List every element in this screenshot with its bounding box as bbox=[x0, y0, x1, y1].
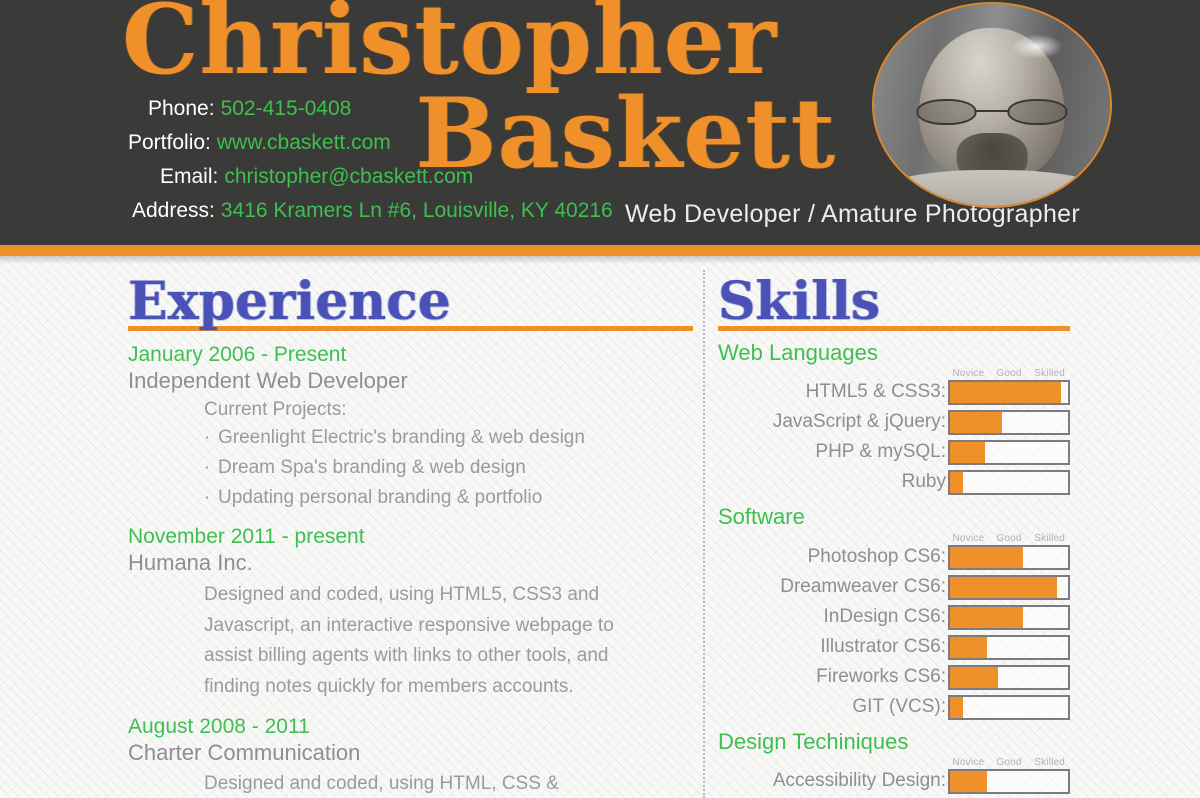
photo-lens-left bbox=[916, 99, 976, 125]
skill-group-title: Web Languages bbox=[718, 340, 1070, 366]
skill-bar bbox=[948, 665, 1070, 690]
skill-scale-label: Good bbox=[989, 368, 1030, 379]
skill-scale-label: Novice bbox=[948, 757, 989, 768]
resume-header: Christopher Baskett Phone: 502-415-0408 … bbox=[0, 0, 1200, 245]
skill-bar bbox=[948, 695, 1070, 720]
skill-label: Illustrator CS6: bbox=[820, 637, 946, 658]
experience-description: Designed and coded, using HTML, CSS & Ja… bbox=[128, 769, 628, 798]
contact-row-portfolio: Portfolio: www.cbaskett.com bbox=[120, 132, 560, 153]
skill-group-title: Software bbox=[718, 504, 1070, 530]
experience-description: Designed and coded, using HTML5, CSS3 an… bbox=[128, 580, 628, 703]
profile-photo bbox=[872, 2, 1112, 208]
experience-date: August 2008 - 2011 bbox=[128, 715, 693, 739]
contact-value-portfolio[interactable]: www.cbaskett.com bbox=[217, 132, 391, 153]
skill-label: Fireworks CS6: bbox=[816, 667, 946, 688]
job-tagline: Web Developer / Amature Photographer bbox=[625, 200, 1080, 229]
experience-subheading: Current Projects: bbox=[128, 398, 693, 423]
skill-scale-label: Skilled bbox=[1029, 533, 1070, 544]
skill-bar-fill bbox=[950, 382, 1061, 403]
experience-heading: Experience bbox=[128, 276, 693, 328]
skill-scale-label: Skilled bbox=[1029, 368, 1070, 379]
photo-glasses-bridge bbox=[977, 110, 1007, 112]
skill-bar-fill bbox=[950, 472, 963, 493]
skill-row: GIT (VCS): bbox=[718, 695, 1070, 720]
experience-item: August 2008 - 2011Charter CommunicationD… bbox=[128, 715, 693, 798]
contact-row-address: Address: 3416 Kramers Ln #6, Louisville,… bbox=[120, 200, 560, 221]
contact-value-phone[interactable]: 502-415-0408 bbox=[221, 98, 352, 119]
first-name: Christopher bbox=[120, 0, 850, 84]
contact-label-phone: Phone: bbox=[148, 98, 215, 119]
experience-bullet: Greenlight Electric's branding & web des… bbox=[204, 423, 693, 453]
skill-row: JavaScript & jQuery: bbox=[718, 410, 1070, 435]
skill-group: SoftwareNoviceGoodSkilledPhotoshop CS6:D… bbox=[718, 504, 1070, 719]
photo-glasses bbox=[916, 99, 1067, 125]
skill-bar-fill bbox=[950, 667, 998, 688]
skill-groups: Web LanguagesNoviceGoodSkilledHTML5 & CS… bbox=[718, 340, 1070, 794]
contact-row-email: Email: christopher@cbaskett.com bbox=[120, 166, 560, 187]
contact-label-portfolio: Portfolio: bbox=[128, 132, 211, 153]
experience-bullet: Dream Spa's branding & web design bbox=[204, 453, 693, 483]
skill-label: PHP & mySQL: bbox=[815, 442, 946, 463]
skill-bar bbox=[948, 605, 1070, 630]
contact-label-address: Address: bbox=[132, 200, 215, 221]
skill-group: Web LanguagesNoviceGoodSkilledHTML5 & CS… bbox=[718, 340, 1070, 495]
contact-list: Phone: 502-415-0408 Portfolio: www.cbask… bbox=[120, 98, 560, 234]
skill-bar-fill bbox=[950, 697, 963, 718]
skills-heading: Skills bbox=[718, 276, 1070, 328]
skill-scale-row: NoviceGoodSkilled bbox=[718, 757, 1070, 769]
skill-bar bbox=[948, 635, 1070, 660]
experience-column: Experience January 2006 - PresentIndepen… bbox=[0, 264, 703, 798]
skill-row: Ruby bbox=[718, 470, 1070, 495]
experience-date: January 2006 - Present bbox=[128, 343, 693, 367]
content-columns: Experience January 2006 - PresentIndepen… bbox=[0, 264, 1200, 798]
skill-row: Photoshop CS6: bbox=[718, 545, 1070, 570]
skill-label: Photoshop CS6: bbox=[808, 547, 946, 568]
skill-label: JavaScript & jQuery: bbox=[773, 412, 946, 433]
skill-bar-fill bbox=[950, 442, 985, 463]
skill-bar bbox=[948, 575, 1070, 600]
photo-lens-right bbox=[1007, 99, 1067, 125]
header-rule-shadow bbox=[0, 256, 1200, 264]
skill-label: Accessibility Design: bbox=[773, 771, 946, 792]
skill-bar-fill bbox=[950, 412, 1002, 433]
skill-bar bbox=[948, 410, 1070, 435]
skill-bar-fill bbox=[950, 577, 1057, 598]
skill-bar bbox=[948, 440, 1070, 465]
skill-row: Illustrator CS6: bbox=[718, 635, 1070, 660]
skill-scale-row: NoviceGoodSkilled bbox=[718, 533, 1070, 545]
skill-bar-fill bbox=[950, 607, 1023, 628]
contact-value-address: 3416 Kramers Ln #6, Louisville, KY 40216 bbox=[221, 200, 613, 221]
header-orange-rule bbox=[0, 245, 1200, 256]
skill-label: InDesign CS6: bbox=[823, 607, 946, 628]
contact-value-email[interactable]: christopher@cbaskett.com bbox=[224, 166, 473, 187]
experience-title: Independent Web Developer bbox=[128, 368, 693, 394]
experience-title: Humana Inc. bbox=[128, 550, 693, 576]
skill-bar bbox=[948, 470, 1070, 495]
experience-title: Charter Communication bbox=[128, 740, 693, 766]
skill-scale-row: NoviceGoodSkilled bbox=[718, 368, 1070, 380]
experience-wrap: Experience January 2006 - PresentIndepen… bbox=[0, 276, 703, 798]
skill-row: PHP & mySQL: bbox=[718, 440, 1070, 465]
skill-label: HTML5 & CSS3: bbox=[806, 382, 946, 403]
skill-scale-label: Good bbox=[989, 757, 1030, 768]
skill-group-title: Design Techiniques bbox=[718, 729, 1070, 755]
skill-bar-fill bbox=[950, 547, 1023, 568]
skill-label: GIT (VCS): bbox=[852, 697, 946, 718]
skill-bar bbox=[948, 545, 1070, 570]
skill-scale-label: Novice bbox=[948, 533, 989, 544]
skill-group: Design TechiniquesNoviceGoodSkilledAcces… bbox=[718, 729, 1070, 794]
skills-column: Skills Web LanguagesNoviceGoodSkilledHTM… bbox=[703, 264, 1200, 798]
skills-wrap: Skills Web LanguagesNoviceGoodSkilledHTM… bbox=[703, 276, 1200, 794]
experience-item: November 2011 - presentHumana Inc.Design… bbox=[128, 525, 693, 703]
skill-bar-fill bbox=[950, 637, 987, 658]
skill-scale: NoviceGoodSkilled bbox=[948, 368, 1070, 379]
skill-scale: NoviceGoodSkilled bbox=[948, 757, 1070, 768]
experience-item: January 2006 - PresentIndependent Web De… bbox=[128, 343, 693, 513]
skill-bar bbox=[948, 380, 1070, 405]
skill-scale-label: Skilled bbox=[1029, 757, 1070, 768]
skill-label: Dreamweaver CS6: bbox=[780, 577, 946, 598]
skill-bar bbox=[948, 769, 1070, 794]
skill-bar-fill bbox=[950, 771, 987, 792]
contact-label-email: Email: bbox=[160, 166, 218, 187]
experience-bullet: Updating personal branding & portfolio bbox=[204, 483, 693, 513]
photo-highlight bbox=[1011, 34, 1063, 58]
skill-row: HTML5 & CSS3: bbox=[718, 380, 1070, 405]
skill-row: Fireworks CS6: bbox=[718, 665, 1070, 690]
experience-date: November 2011 - present bbox=[128, 525, 693, 549]
resume-page: Christopher Baskett Phone: 502-415-0408 … bbox=[0, 0, 1200, 798]
skill-row: Dreamweaver CS6: bbox=[718, 575, 1070, 600]
experience-items: January 2006 - PresentIndependent Web De… bbox=[128, 343, 693, 798]
skill-scale-label: Good bbox=[989, 533, 1030, 544]
experience-bullet-list: Greenlight Electric's branding & web des… bbox=[128, 423, 693, 513]
skill-row: InDesign CS6: bbox=[718, 605, 1070, 630]
skill-scale: NoviceGoodSkilled bbox=[948, 533, 1070, 544]
skill-label: Ruby bbox=[902, 472, 946, 493]
skill-scale-label: Novice bbox=[948, 368, 989, 379]
contact-row-phone: Phone: 502-415-0408 bbox=[120, 98, 560, 119]
skill-row: Accessibility Design: bbox=[718, 769, 1070, 794]
